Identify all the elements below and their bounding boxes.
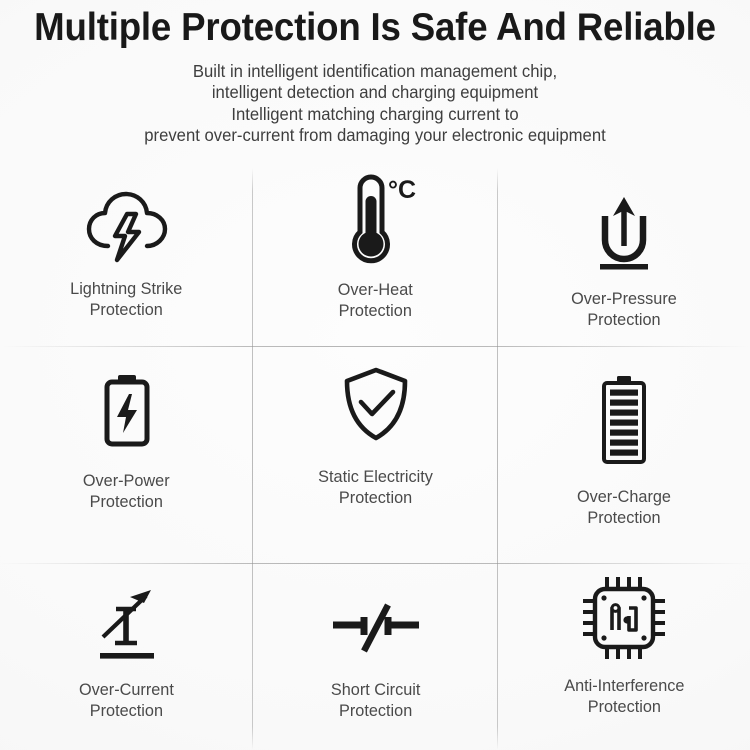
feature-label: Over-Current Protection bbox=[79, 679, 174, 721]
grid-divider-horizontal-2 bbox=[0, 563, 750, 564]
celsius-badge-text: °C bbox=[388, 176, 416, 204]
feature-label: Over-Power Protection bbox=[83, 470, 170, 512]
protection-features-page: Multiple Protection Is Safe And Reliable… bbox=[0, 0, 750, 750]
subtitle-line-4: prevent over-current from damaging your … bbox=[11, 125, 739, 147]
feature-label: Over-Heat Protection bbox=[338, 279, 413, 321]
feature-label: Lightning Strike Protection bbox=[70, 278, 182, 320]
feature-cell-over-power: Over-Power Protection bbox=[0, 346, 253, 563]
subtitle-line-1: Built in intelligent identification mana… bbox=[11, 61, 739, 83]
feature-cell-anti-interference: Anti-Interference Protection bbox=[498, 563, 750, 750]
cloud-lightning-icon bbox=[83, 188, 171, 266]
feature-cell-over-current: Over-Current Protection bbox=[0, 563, 253, 750]
subtitle-line-2: intelligent detection and charging equip… bbox=[11, 82, 739, 104]
battery-bolt-icon bbox=[95, 372, 159, 452]
grid-divider-vertical-2 bbox=[497, 168, 498, 750]
feature-label: Over-Pressure Protection bbox=[571, 288, 677, 330]
subtitle-line-3: Intelligent matching charging current to bbox=[11, 104, 739, 126]
feature-cell-static-electricity: Static Electricity Protection bbox=[253, 346, 498, 563]
feature-label: Over-Charge Protection bbox=[577, 486, 671, 528]
feature-label: Short Circuit Protection bbox=[331, 679, 420, 721]
features-grid: Lightning Strike Protection °C Over-Heat… bbox=[0, 166, 750, 750]
pressure-up-arrow-icon bbox=[589, 194, 659, 274]
page-header: Multiple Protection Is Safe And Reliable… bbox=[0, 0, 750, 147]
page-subtitle: Built in intelligent identification mana… bbox=[11, 50, 739, 147]
battery-full-icon bbox=[594, 374, 654, 466]
grid-divider-vertical-1 bbox=[252, 168, 253, 750]
current-rising-arrow-icon bbox=[94, 587, 160, 663]
thermometer-celsius-icon: °C bbox=[332, 172, 420, 268]
feature-cell-over-heat: °C Over-Heat Protection bbox=[253, 166, 498, 346]
page-title: Multiple Protection Is Safe And Reliable bbox=[23, 0, 728, 50]
shield-check-icon bbox=[336, 364, 416, 444]
grid-divider-horizontal-1 bbox=[0, 346, 750, 347]
feature-cell-lightning-strike: Lightning Strike Protection bbox=[0, 166, 253, 346]
feature-label: Anti-Interference Protection bbox=[564, 675, 684, 717]
feature-label: Static Electricity Protection bbox=[318, 466, 433, 508]
feature-cell-over-charge: Over-Charge Protection bbox=[498, 346, 750, 563]
short-circuit-icon bbox=[330, 601, 422, 657]
feature-cell-over-pressure: Over-Pressure Protection bbox=[498, 166, 750, 346]
feature-cell-short-circuit: Short Circuit Protection bbox=[253, 563, 498, 750]
microchip-icon bbox=[581, 575, 667, 661]
